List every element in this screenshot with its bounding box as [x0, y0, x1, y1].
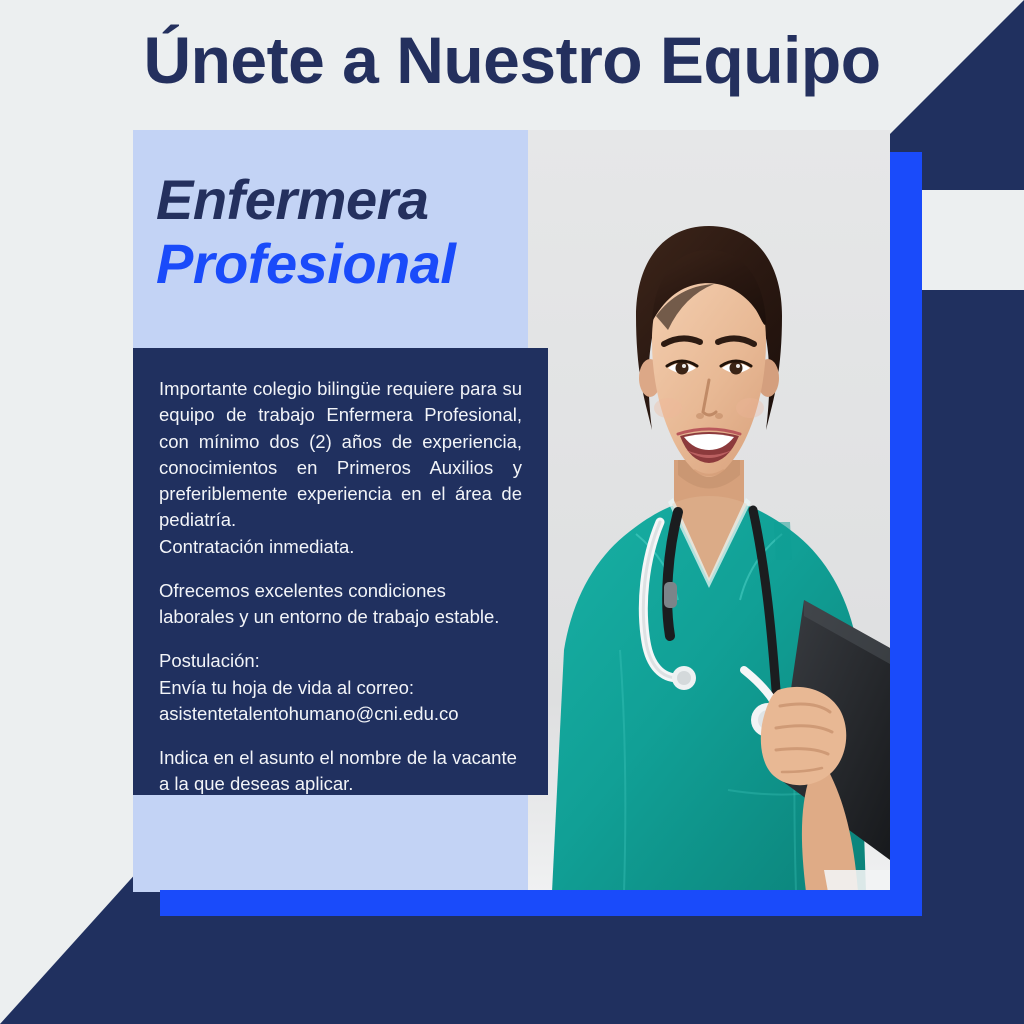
- page-title: Únete a Nuestro Equipo: [0, 22, 1024, 98]
- bottom-blue-accent-bar: [160, 890, 922, 916]
- paragraph-spacer-2: [159, 630, 522, 648]
- job-title-line-2: Profesional: [156, 232, 528, 296]
- bottom-light-blue-panel: [133, 793, 528, 892]
- paragraph-spacer-3: [159, 727, 522, 745]
- hiring-immediacy-text: Contratación inmediata.: [159, 534, 522, 560]
- requirements-paragraph: Importante colegio bilingüe requiere par…: [159, 376, 522, 534]
- application-heading: Postulación:: [159, 648, 522, 674]
- job-title-line-1: Enfermera: [156, 168, 528, 232]
- paragraph-spacer-1: [159, 560, 522, 578]
- contact-email[interactable]: asistentetalentohumano@cni.edu.co: [159, 701, 522, 727]
- subject-line-note: Indica en el asunto el nombre de la vaca…: [159, 745, 522, 798]
- right-blue-accent-bar: [890, 152, 922, 914]
- job-title: Enfermera Profesional: [156, 168, 528, 296]
- application-instruction: Envía tu hoja de vida al correo:: [159, 675, 522, 701]
- job-posting-poster: Únete a Nuestro Equipo: [0, 0, 1024, 1024]
- nurse-photo: [528, 130, 890, 892]
- benefits-paragraph: Ofrecemos excelentes condiciones laboral…: [159, 578, 522, 631]
- job-description-panel: Importante colegio bilingüe requiere par…: [133, 348, 548, 795]
